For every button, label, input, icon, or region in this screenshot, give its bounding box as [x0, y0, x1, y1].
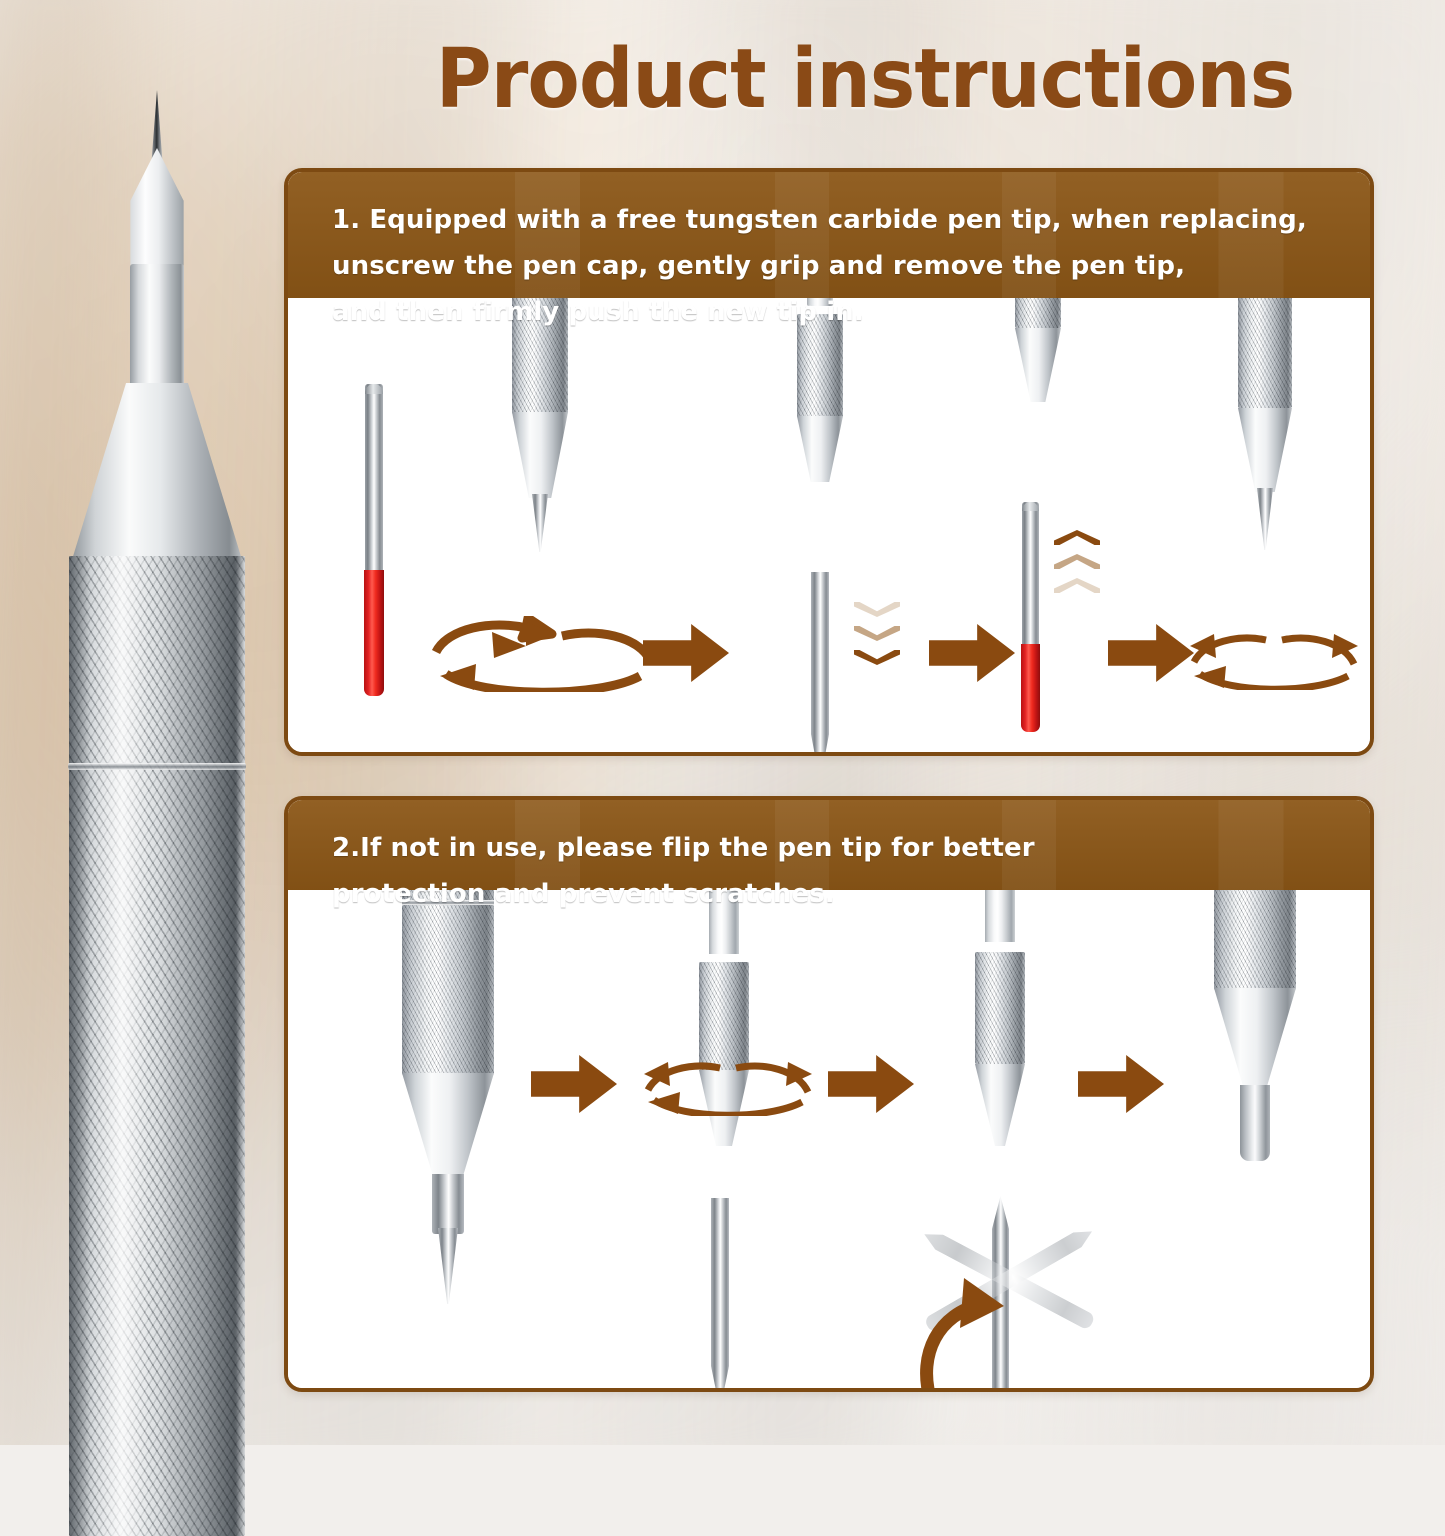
- hero-product-photo: [62, 88, 252, 1448]
- hero-knurled-body: [69, 556, 245, 1536]
- instruction-panel-1: 1. Equipped with a free tungsten carbide…: [284, 168, 1374, 756]
- rotation-arrows-unscrew-icon: [430, 616, 656, 692]
- panel-1-heading: 1. Equipped with a free tungsten carbide…: [288, 172, 1370, 298]
- panel-2-line-2: protection and prevent scratches.: [332, 872, 1336, 918]
- panel-2-line-1: 2.If not in use, please flip the pen tip…: [332, 826, 1336, 872]
- fig-old-tip-detached: [803, 572, 837, 756]
- step-arrow-2: [929, 624, 1015, 682]
- panel-1-line-2: unscrew the pen cap, gently grip and rem…: [332, 244, 1336, 290]
- step2-arrow-2: [828, 1055, 914, 1113]
- rotation-arrows-tighten-icon: [1186, 628, 1362, 690]
- fig-withdrawn-tip: [700, 1198, 740, 1392]
- step-arrow-1: [643, 624, 729, 682]
- panel-1-line-3: and then firmly push the new tip in.: [332, 290, 1336, 336]
- fig-new-tip-red: [1016, 502, 1046, 732]
- page-title: Product instructions: [340, 24, 1391, 134]
- hero-taper: [71, 383, 243, 563]
- panel-2-heading: 2.If not in use, please flip the pen tip…: [288, 800, 1370, 890]
- fig-spare-tip: [361, 384, 387, 696]
- step2-arrow-3: [1078, 1055, 1164, 1113]
- step2-arrow-1: [531, 1055, 617, 1113]
- step-arrow-3: [1108, 624, 1194, 682]
- hero-body-seam: [68, 763, 246, 770]
- hero-collar: [130, 264, 184, 394]
- panel-1-line-1: 1. Equipped with a free tungsten carbide…: [332, 198, 1336, 244]
- instruction-panel-2: 2.If not in use, please flip the pen tip…: [284, 796, 1374, 1392]
